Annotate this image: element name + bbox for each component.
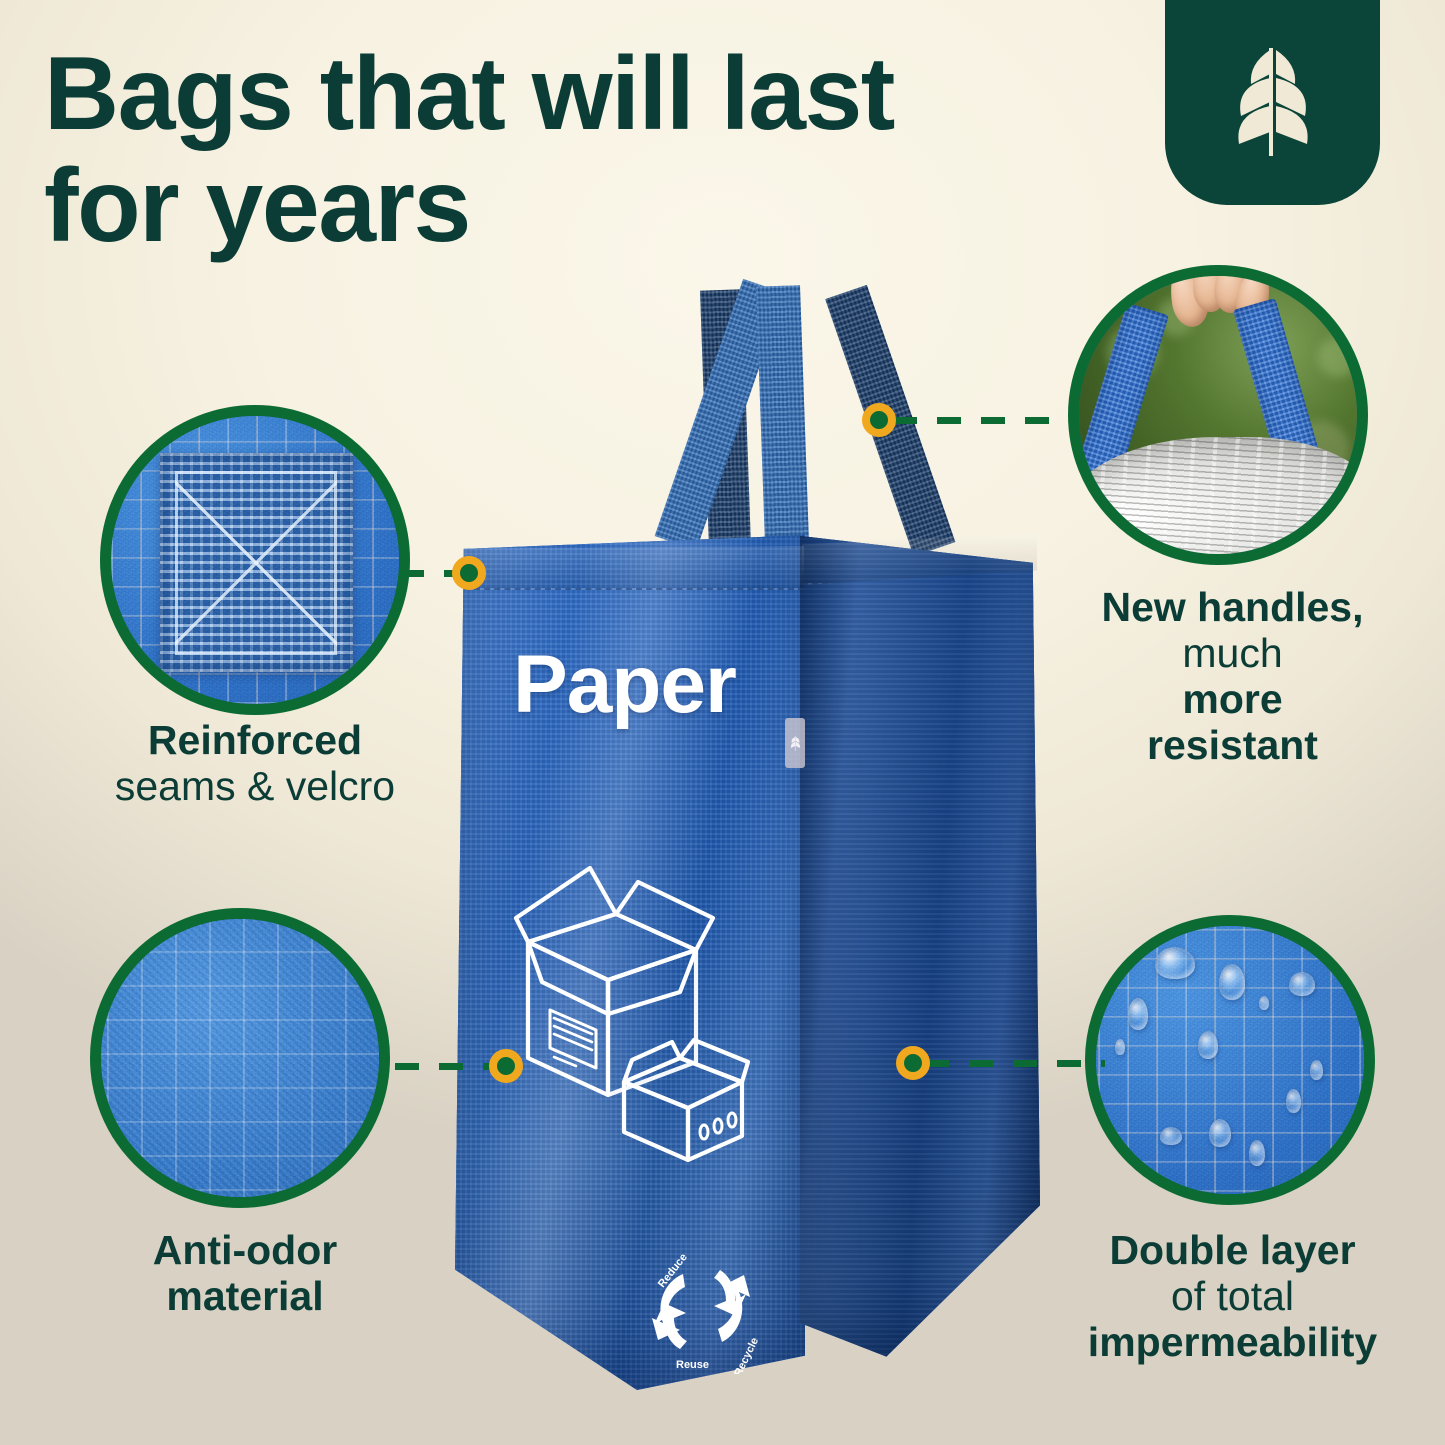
connector-line-new-handles <box>893 417 1078 424</box>
bag-category-label: Paper <box>513 638 736 732</box>
recycle-word-reuse: Reuse <box>676 1359 709 1371</box>
bag-top-hem-front <box>464 546 804 590</box>
connector-dot-reinforced-seams <box>452 556 486 590</box>
bag-handle-front-right <box>756 285 809 558</box>
open-cardboard-box-icon <box>498 850 773 1170</box>
recycle-word-recycle: Recycle <box>732 1336 761 1374</box>
recycle-arrows-icon: Reduce Reuse Recycle <box>636 1244 766 1374</box>
product-bag: Paper <box>0 0 1445 1445</box>
connector-dot-double-layer <box>896 1046 930 1080</box>
leaf-tag-icon <box>785 718 805 768</box>
connector-line-double-layer <box>925 1060 1105 1067</box>
infographic-canvas: Bags that will last for years <box>0 0 1445 1445</box>
connector-dot-new-handles <box>862 403 896 437</box>
connector-dot-anti-odor <box>489 1049 523 1083</box>
bag-panel-side <box>800 525 1040 1365</box>
